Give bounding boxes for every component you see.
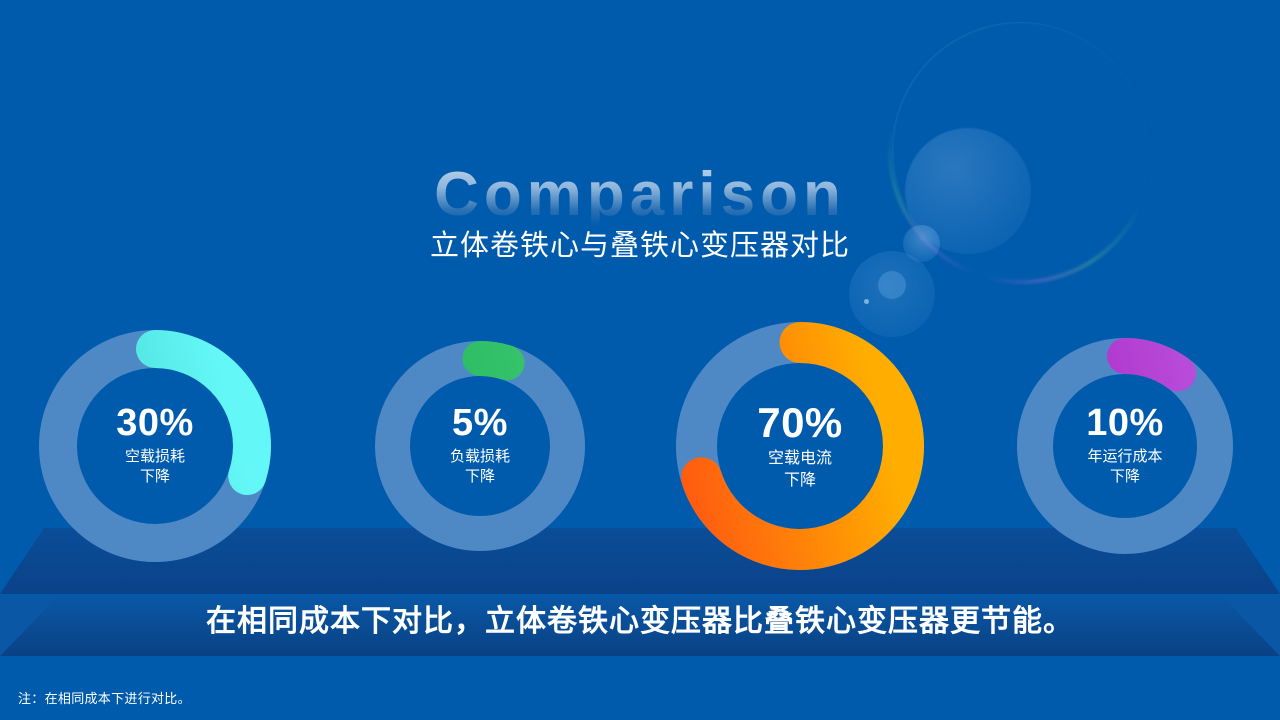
decorative-highlight-dot — [864, 299, 869, 304]
donut-center-label: 70%空载电流下降 — [676, 322, 924, 570]
donut-caption-line1: 空载损耗 — [125, 447, 185, 467]
donut-chart-row: 30%空载损耗下降5%负载损耗下降70%空载电流下降10%年运行成本下降 — [0, 326, 1280, 566]
decorative-bubble-small — [878, 271, 906, 299]
donut-caption-line1: 空载电流 — [768, 448, 832, 470]
donut-chart-2: 5%负载损耗下降 — [375, 341, 585, 551]
donut-value: 5% — [452, 404, 508, 444]
donut-chart-1: 30%空载损耗下降 — [39, 330, 271, 562]
donut-caption: 空载电流下降 — [768, 448, 832, 491]
donut-center-label: 5%负载损耗下降 — [375, 341, 585, 551]
page-title-english: Comparison — [0, 164, 1280, 226]
donut-value: 70% — [757, 401, 843, 445]
donut-value: 10% — [1086, 404, 1164, 444]
conclusion-headline: 在相同成本下对比，立体卷铁心变压器比叠铁心变压器更节能。 — [0, 604, 1280, 640]
donut-value: 30% — [116, 404, 194, 444]
donut-caption-line1: 负载损耗 — [450, 447, 510, 467]
donut-caption-line2: 下降 — [450, 467, 510, 487]
page-subtitle-chinese: 立体卷铁心与叠铁心变压器对比 — [0, 229, 1280, 264]
donut-center-label: 30%空载损耗下降 — [39, 330, 271, 562]
donut-chart-4: 10%年运行成本下降 — [1017, 338, 1233, 554]
donut-caption: 年运行成本下降 — [1087, 447, 1162, 488]
donut-center-label: 10%年运行成本下降 — [1017, 338, 1233, 554]
donut-caption-line2: 下降 — [1087, 467, 1162, 487]
donut-caption-line2: 下降 — [768, 470, 832, 492]
donut-chart-3: 70%空载电流下降 — [676, 322, 924, 570]
donut-caption-line2: 下降 — [125, 467, 185, 487]
slide-canvas: Comparison 立体卷铁心与叠铁心变压器对比 30%空载损耗下降5%负载损… — [0, 0, 1280, 720]
donut-caption-line1: 年运行成本 — [1087, 447, 1162, 467]
footnote-text: 注：在相同成本下进行对比。 — [18, 688, 191, 707]
donut-caption: 负载损耗下降 — [450, 447, 510, 488]
donut-caption: 空载损耗下降 — [125, 447, 185, 488]
